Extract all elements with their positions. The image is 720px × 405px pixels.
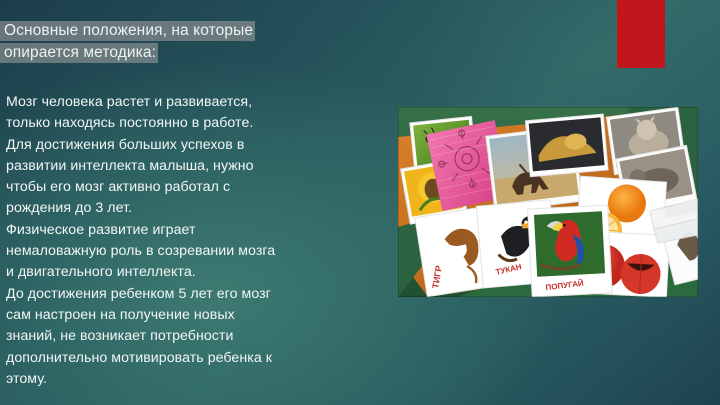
body-line: развитии интеллекта малыша, нужно (6, 156, 388, 177)
body-line: знаний, не возникает потребности (6, 326, 388, 347)
body-line: этому. (6, 369, 388, 390)
body-line: сам настроен на получение новых (6, 305, 388, 326)
body-line: Для достижения больших успехов в (6, 135, 388, 156)
body-line: рождения до 3 лет. (6, 198, 388, 219)
body-line: дополнительно мотивировать ребенка к (6, 348, 388, 369)
red-accent-bar (617, 0, 665, 68)
slide-title: Основные положения, на которые опирается… (0, 20, 380, 64)
body-line: чтобы его мозг активно работал с (6, 177, 388, 198)
slide-body-text: Мозг человека растет и развивается, толь… (6, 92, 388, 390)
body-line: и двигательного интеллекта. (6, 262, 388, 283)
slide-canvas: Основные положения, на которые опирается… (0, 0, 720, 405)
body-line: Мозг человека растет и развивается, (6, 92, 388, 113)
flash-cards-photo: ТИГР ТУКАН ПОПУГАЙ (398, 107, 698, 297)
title-line-2: опирается методика: (0, 43, 158, 63)
body-line: немаловажную роль в созревании мозга (6, 241, 388, 262)
body-line: Физическое развитие играет (6, 220, 388, 241)
title-line-1: Основные положения, на которые (0, 21, 255, 41)
body-line: только находясь постоянно в работе. (6, 113, 388, 134)
body-line: До достижения ребенком 5 лет его мозг (6, 284, 388, 305)
